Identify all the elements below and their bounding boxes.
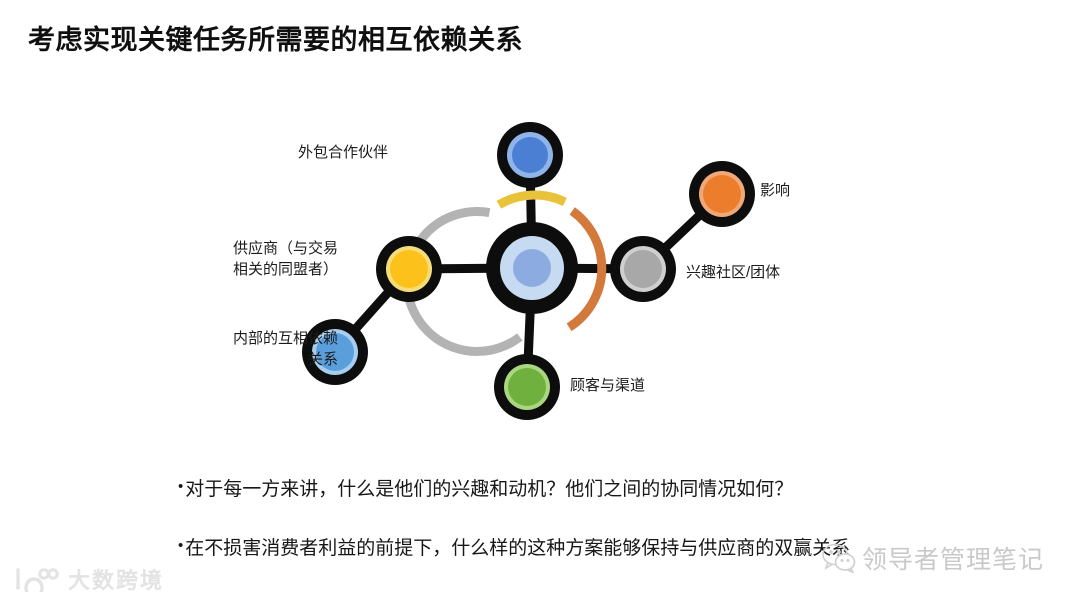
node-label-internal: 内部的互相依赖 关系 xyxy=(110,328,338,370)
bullet-item-1: •对于每一方来讲，什么是他们的兴趣和动机？他们之间的协同情况如何？ xyxy=(178,474,793,503)
node-center[interactable] xyxy=(486,222,578,314)
bullet-item-2: •在不损害消费者利益的前提下，什么样的这种方案能够保持与供应商的双赢关系 xyxy=(178,533,850,562)
interdependency-diagram: 外包合作伙伴 供应商（与交易 相关的同盟者） 内部的互相依赖 关系 影响 兴趣社… xyxy=(0,80,1080,440)
bullet-text: 在不损害消费者利益的前提下，什么样的这种方案能够保持与供应商的双赢关系 xyxy=(185,538,850,559)
node-supplier[interactable] xyxy=(376,236,442,302)
watermark-right-text: 领导者管理笔记 xyxy=(862,540,1044,576)
node-center-core xyxy=(513,249,551,287)
slide-canvas: 考虑实现关键任务所需要的相互依赖关系 xyxy=(0,0,1080,607)
watermark-left-text: 大数跨境 xyxy=(68,563,164,595)
bullet-marker: • xyxy=(178,533,183,559)
node-influence[interactable] xyxy=(689,161,755,227)
node-label-influence: 影响 xyxy=(760,180,930,201)
node-supplier-core xyxy=(390,250,428,288)
page-title: 考虑实现关键任务所需要的相互依赖关系 xyxy=(28,18,523,57)
node-community-core xyxy=(624,250,662,288)
watermark-right: 领导者管理笔记 xyxy=(822,540,1044,576)
node-outsourcing[interactable] xyxy=(497,122,563,188)
node-customer-core xyxy=(508,368,546,406)
node-label-outsourcing: 外包合作伙伴 xyxy=(260,142,388,163)
node-influence-core xyxy=(703,175,741,213)
dashukuajing-logo-icon xyxy=(14,566,60,592)
node-label-supplier: 供应商（与交易 相关的同盟者） xyxy=(120,238,338,280)
bullet-marker: • xyxy=(178,474,183,500)
node-outsourcing-core xyxy=(512,137,548,173)
bullet-text: 对于每一方来讲，什么是他们的兴趣和动机？他们之间的协同情况如何？ xyxy=(185,479,793,500)
node-community[interactable] xyxy=(610,236,676,302)
node-customer[interactable] xyxy=(494,354,560,420)
node-label-community: 兴趣社区/团体 xyxy=(686,262,876,283)
node-label-customer: 顾客与渠道 xyxy=(570,375,760,396)
watermark-left: 大数跨境 xyxy=(14,563,164,595)
